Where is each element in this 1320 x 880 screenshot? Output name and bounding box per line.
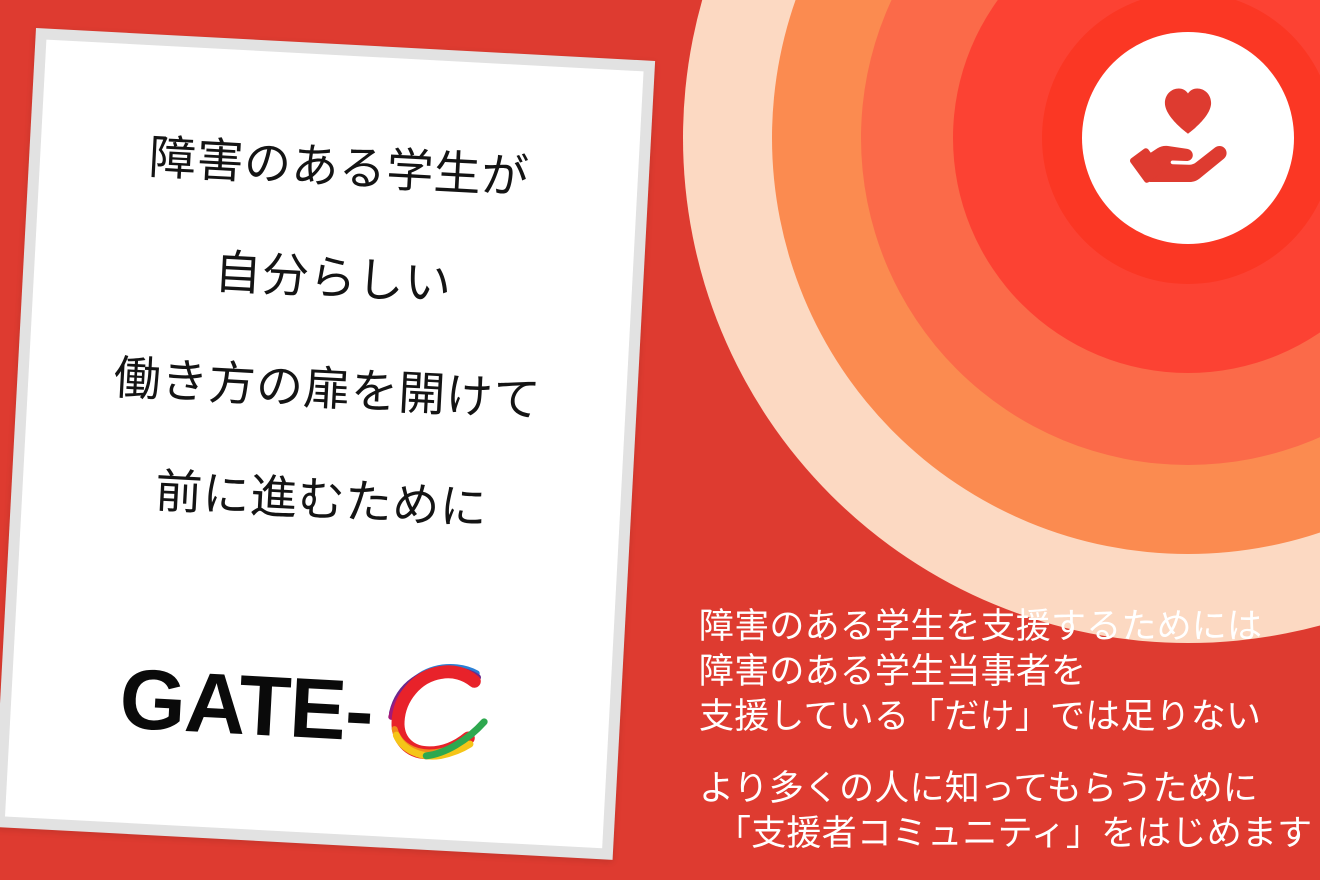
message-paragraph-2: より多くの人に知ってもらうために 「支援者コミュニティ」をはじめます bbox=[699, 767, 1299, 857]
hand-holding-heart-icon bbox=[1118, 70, 1258, 210]
message-block: 障害のある学生を支援するためには 障害のある学生当事者を 支援している「だけ」で… bbox=[699, 605, 1299, 857]
gate-c-logo: GATE- bbox=[117, 640, 504, 776]
card-surface: 障害のある学生が 自分らしい 働き方の扉を開けて 前に進むために GATE- bbox=[5, 40, 644, 849]
ring-outer-peach bbox=[683, 0, 1320, 643]
headline-line-4: 前に進むために bbox=[154, 467, 489, 532]
message-paragraph-1: 障害のある学生を支援するためには 障害のある学生当事者を 支援している「だけ」で… bbox=[699, 605, 1299, 739]
message-line-5: 「支援者コミュニティ」をはじめます bbox=[699, 812, 1299, 857]
message-line-4: より多くの人に知ってもらうために bbox=[699, 767, 1299, 812]
logo-wordmark: GATE- bbox=[118, 656, 375, 754]
ring-orange bbox=[772, 0, 1320, 554]
headline-card: 障害のある学生が 自分らしい 働き方の扉を開けて 前に進むために GATE- bbox=[0, 28, 655, 860]
ring-white-disc bbox=[1082, 32, 1294, 244]
ring-coral bbox=[861, 0, 1320, 465]
message-line-3: 支援している「だけ」では足りない bbox=[699, 695, 1299, 740]
headline-line-2: 自分らしい bbox=[213, 248, 453, 308]
ring-red-orange bbox=[953, 0, 1320, 373]
headline-line-3: 働き方の扉を開けて bbox=[113, 354, 542, 424]
message-line-1: 障害のある学生を支援するためには bbox=[699, 605, 1299, 650]
poster-root: 障害のある学生が 自分らしい 働き方の扉を開けて 前に進むために GATE- bbox=[0, 0, 1320, 880]
logo-c-swoosh-icon bbox=[366, 650, 504, 777]
headline-line-1: 障害のある学生が bbox=[148, 133, 530, 200]
ring-inner-red bbox=[1042, 0, 1320, 284]
message-line-2: 障害のある学生当事者を bbox=[699, 650, 1299, 695]
